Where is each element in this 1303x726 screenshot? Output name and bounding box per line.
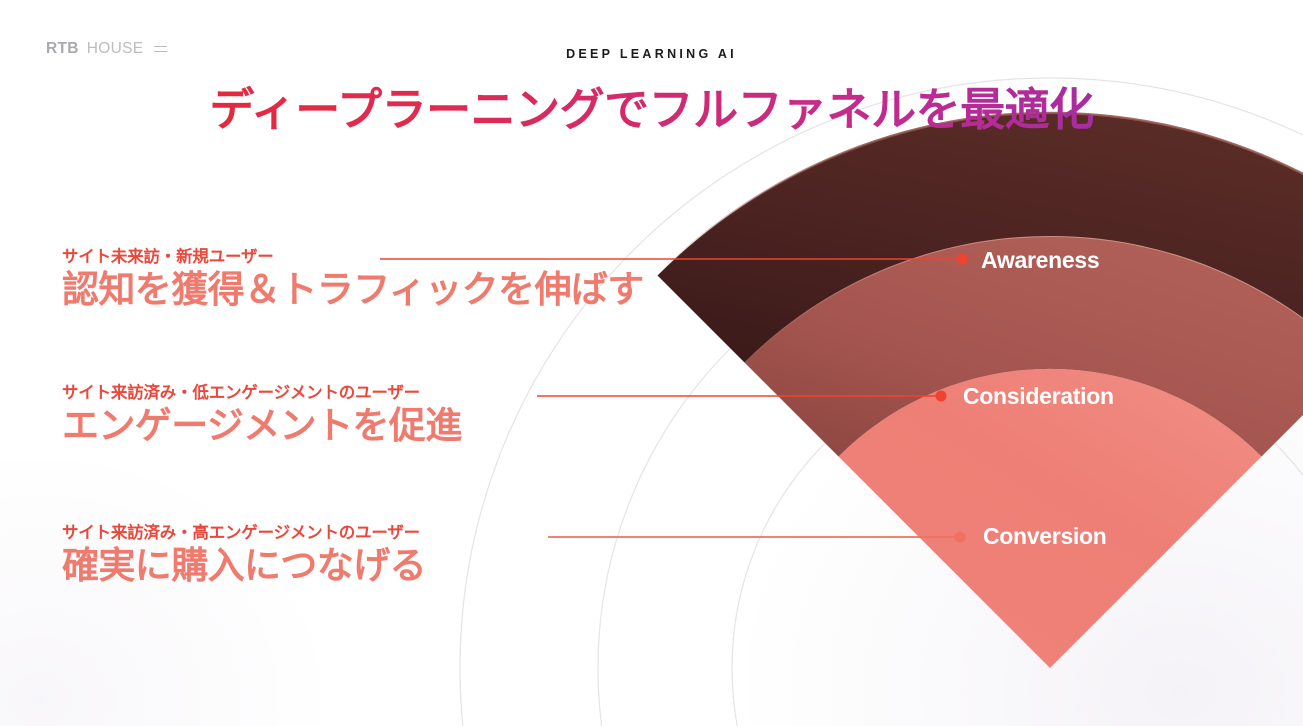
funnel-label-consideration: Consideration [963, 383, 1114, 410]
stage-goal-consideration: エンゲージメントを促進 [62, 404, 462, 448]
funnel-label-awareness: Awareness [981, 247, 1099, 274]
slide-canvas: RTBHOUSE DEEP LEARNING AI ディープラーニングでフルファ… [0, 0, 1303, 726]
page-title: ディープラーニングでフルファネルを最適化 [0, 73, 1303, 138]
funnel-label-conversion: Conversion [983, 523, 1107, 550]
funnel-band-conversion [839, 369, 1262, 668]
stage-audience-consideration: サイト来訪済み・低エンゲージメントのユーザー [62, 384, 462, 402]
stage-goal-conversion: 確実に購入につなげる [62, 544, 426, 588]
stage-audience-awareness: サイト未来訪・新規ユーザー [62, 248, 644, 266]
stage-goal-awareness: 認知を獲得＆トラフィックを伸ばす [62, 268, 644, 312]
stage-audience-conversion: サイト来訪済み・高エンゲージメントのユーザー [62, 524, 426, 542]
stage-caption-awareness: サイト未来訪・新規ユーザー 認知を獲得＆トラフィックを伸ばす [62, 248, 644, 312]
stage-caption-conversion: サイト来訪済み・高エンゲージメントのユーザー 確実に購入につなげる [62, 524, 426, 588]
stage-caption-consideration: サイト来訪済み・低エンゲージメントのユーザー エンゲージメントを促進 [62, 384, 462, 448]
eyebrow-text: DEEP LEARNING AI [0, 47, 1303, 61]
